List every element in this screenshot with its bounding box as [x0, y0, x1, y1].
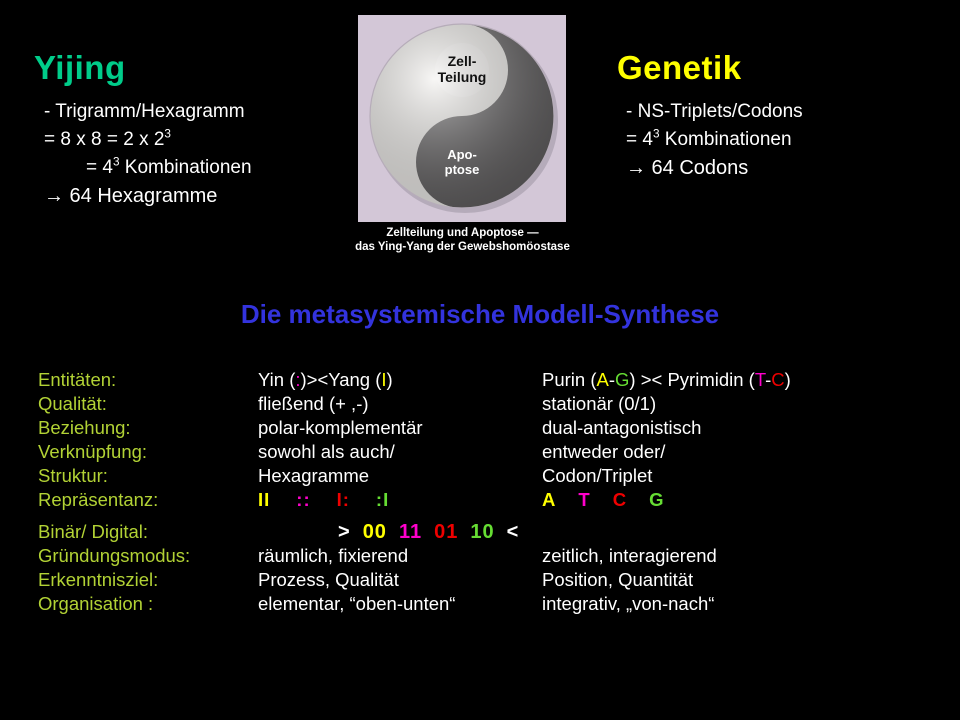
table-row: Verknüpfung: sowohl als auch/ entweder o…: [38, 440, 938, 464]
row-label: Binär/ Digital:: [38, 520, 148, 544]
right-bullet-3-text: → 64 Codons: [626, 157, 748, 179]
text-run: zeitlich, interagierend: [542, 545, 717, 566]
row-genetik-value: entweder oder/: [542, 440, 665, 464]
left-bullet-2-sup: 3: [164, 128, 171, 141]
right-bullet-1-text: - NS-Triplets/Codons: [626, 101, 803, 122]
binary-value: 11: [399, 521, 422, 543]
binary-value: 00: [363, 521, 387, 543]
row-label: Qualität:: [38, 392, 107, 416]
binary-values: >00110110<: [338, 520, 519, 544]
nucleobase-letter: G: [649, 489, 664, 510]
row-yijing-value: elementar, “oben-unten“: [258, 592, 455, 616]
row-label: Struktur:: [38, 464, 108, 488]
text-run: räumlich, fixierend: [258, 545, 408, 566]
section-title: Die metasystemische Modell-Synthese: [0, 299, 960, 330]
text-run: ) >< Pyrimidin (: [629, 369, 754, 390]
figure-caption: Zellteilung und Apoptose — das Ying-Yang…: [340, 226, 585, 254]
table-row: Beziehung: polar-komplementär dual-antag…: [38, 416, 938, 440]
trigram-symbol: II: [258, 489, 270, 510]
left-bullet-4: → 64 Hexagramme: [44, 182, 252, 210]
row-genetik-value: Codon/Triplet: [542, 464, 652, 488]
row-yijing-value: Hexagramme: [258, 464, 369, 488]
right-bullet-2-pre: = 4: [626, 129, 653, 150]
row-label: Repräsentanz:: [38, 488, 158, 512]
text-run: )><Yang (: [301, 369, 382, 390]
comparison-table: Entitäten: Yin (:)><Yang (I) Purin (A-G)…: [38, 368, 938, 616]
right-bullet-1: - NS-Triplets/Codons: [626, 98, 803, 126]
right-bullet-3: → 64 Codons: [626, 154, 803, 182]
row-label: Verknüpfung:: [38, 440, 147, 464]
row-yijing-value: polar-komplementär: [258, 416, 423, 440]
nucleobase-letter: T: [578, 489, 590, 510]
text-run: Yin (: [258, 369, 295, 390]
row-label: Erkenntnisziel:: [38, 568, 158, 592]
left-bullet-1: - Trigramm/Hexagramm: [44, 98, 252, 126]
figure-caption-line-1: Zellteilung und Apoptose —: [340, 226, 585, 240]
text-run: C: [771, 369, 784, 390]
right-column-heading: Genetik: [617, 49, 742, 87]
table-row: Entitäten: Yin (:)><Yang (I) Purin (A-G)…: [38, 368, 938, 392]
text-run: sowohl als auch/: [258, 441, 395, 462]
trigram-symbol: I:: [337, 489, 350, 510]
figure-caption-line-2: das Ying-Yang der Gewebshomöostase: [340, 240, 585, 254]
slide-canvas: Yijing - Trigramm/Hexagramm = 8 x 8 = 2 …: [0, 0, 960, 720]
binary-open-bracket: >: [338, 521, 351, 543]
text-run: Prozess, Qualität: [258, 569, 399, 590]
figure-label-apo: Apo-: [447, 147, 477, 162]
row-label: Entitäten:: [38, 368, 116, 392]
left-bullet-3-post: Kombinationen: [120, 157, 252, 178]
text-run: elementar, “oben-unten“: [258, 593, 455, 614]
text-run: fließend (+ ,-): [258, 393, 369, 414]
text-run: dual-antagonistisch: [542, 417, 701, 438]
nucleobase-letter: C: [613, 489, 627, 510]
binary-value: 01: [434, 521, 458, 543]
table-row-binary: Binär/ Digital: >00110110<: [38, 520, 938, 544]
left-bullet-2-pre: = 8 x 8 = 2 x 2: [44, 129, 164, 150]
row-yijing-value: Yin (:)><Yang (I): [258, 368, 393, 392]
left-bullet-4-text: → 64 Hexagramme: [44, 185, 217, 207]
text-run: Codon/Triplet: [542, 465, 652, 486]
row-yijing-value: sowohl als auch/: [258, 440, 395, 464]
text-run: G: [615, 369, 629, 390]
binary-value: 10: [470, 521, 494, 543]
text-run: stationär (0/1): [542, 393, 656, 414]
left-bullet-2: = 8 x 8 = 2 x 23: [44, 126, 252, 154]
text-run: ): [785, 369, 791, 390]
representation-bases: ATCG: [542, 488, 664, 512]
row-genetik-value: zeitlich, interagierend: [542, 544, 717, 568]
text-run: ): [387, 369, 393, 390]
left-column-bullets: - Trigramm/Hexagramm = 8 x 8 = 2 x 23 = …: [44, 98, 252, 210]
text-run: Hexagramme: [258, 465, 369, 486]
figure-label-zell: Zell-: [448, 53, 477, 69]
table-row: Organisation : elementar, “oben-unten“ i…: [38, 592, 938, 616]
representation-symbols: II::I::I: [258, 488, 389, 512]
right-column-bullets: - NS-Triplets/Codons = 43 Kombinationen …: [626, 98, 803, 182]
figure-label-ptose: ptose: [445, 162, 480, 177]
left-bullet-1-text: - Trigramm/Hexagramm: [44, 101, 245, 122]
left-column-heading: Yijing: [34, 49, 126, 87]
yin-yang-figure: Zell- Teilung Apo- ptose: [358, 15, 566, 222]
right-bullet-2-post: Kombinationen: [660, 129, 792, 150]
table-row: Gründungsmodus: räumlich, fixierend zeit…: [38, 544, 938, 568]
text-run: A: [597, 369, 609, 390]
table-row-representation: Repräsentanz: II::I::I ATCG: [38, 488, 938, 512]
left-bullet-3-pre: = 4: [86, 157, 113, 178]
row-yijing-value: Prozess, Qualität: [258, 568, 399, 592]
right-bullet-2: = 43 Kombinationen: [626, 126, 803, 154]
table-row: Qualität: fließend (+ ,-) stationär (0/1…: [38, 392, 938, 416]
text-run: polar-komplementär: [258, 417, 423, 438]
text-run: Purin (: [542, 369, 597, 390]
row-label: Gründungsmodus:: [38, 544, 190, 568]
text-run: integrativ, „von-nach“: [542, 593, 714, 614]
table-row: Erkenntnisziel: Prozess, Qualität Positi…: [38, 568, 938, 592]
binary-close-bracket: <: [507, 521, 520, 543]
left-bullet-3: = 43 Kombinationen: [44, 154, 252, 182]
row-genetik-value: Purin (A-G) >< Pyrimidin (T-C): [542, 368, 791, 392]
text-run: Position, Quantität: [542, 569, 693, 590]
trigram-symbol: ::: [296, 489, 310, 510]
row-genetik-value: stationär (0/1): [542, 392, 656, 416]
row-yijing-value: räumlich, fixierend: [258, 544, 408, 568]
row-label: Organisation :: [38, 592, 153, 616]
row-genetik-value: dual-antagonistisch: [542, 416, 701, 440]
figure-label-teilung: Teilung: [438, 69, 487, 85]
row-yijing-value: fließend (+ ,-): [258, 392, 369, 416]
row-genetik-value: Position, Quantität: [542, 568, 693, 592]
table-row: Struktur: Hexagramme Codon/Triplet: [38, 464, 938, 488]
row-genetik-value: integrativ, „von-nach“: [542, 592, 714, 616]
row-label: Beziehung:: [38, 416, 131, 440]
text-run: entweder oder/: [542, 441, 665, 462]
trigram-symbol: :I: [376, 489, 389, 510]
yin-yang-icon: Zell- Teilung Apo- ptose: [358, 15, 566, 222]
nucleobase-letter: A: [542, 489, 556, 510]
text-run: T: [755, 369, 765, 390]
